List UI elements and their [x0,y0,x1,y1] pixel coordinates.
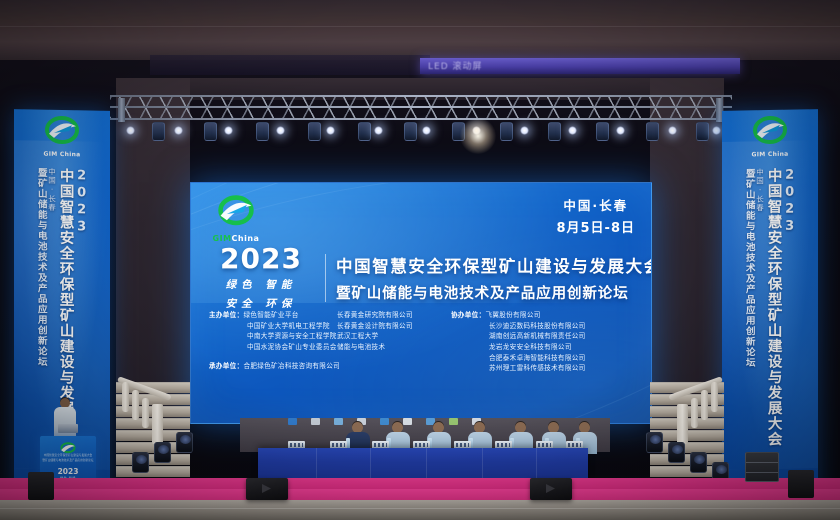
banner-logo-wordmark-left: GIM China [35,150,89,158]
conference-subtitle: 暨矿山储能与电池技术及产品应用创新论坛 [336,282,652,303]
banner-city-right: 中国·长春 [756,168,764,493]
screen-title-area: 2023 绿色 智能 安全 环保 中国智慧安全环保型矿山建设与发展大会 暨矿山储… [207,245,637,311]
title-divider [325,254,326,302]
organizers-column-2: 长春黄金研究院有限公司 长春黄金设计院有限公司 武汉工程大学 储能与电池技术 [337,310,433,374]
stair-newel-left [152,404,163,444]
banner-vertical-text-right: 2023 中国智慧安全环保型矿山建设与发展大会 中国·长春 暨矿山储能与电池技术… [722,167,818,494]
banner-logo-wordmark-right: GIM China [743,150,797,158]
sponsor-icon [311,418,320,425]
moving-head-light [176,432,193,453]
podium-line1: 中国智慧安全环保型矿山建设与发展大会 [40,454,96,458]
bright-spotlight-flare [460,118,496,154]
conference-title: 中国智慧安全环保型矿山建设与发展大会 [336,253,652,277]
organizer-row: 储能与电池技术 [337,342,433,353]
staircase-left [116,360,190,490]
gim-logo-icon [42,116,82,151]
host-label: 承办单位： [209,362,243,370]
cohost-item: 飞翼股份有限公司 [485,311,540,319]
podium-laptop [58,424,78,433]
moving-head-light [132,452,149,473]
cohost-label: 协办单位： [451,311,485,319]
sponsor-icon [288,418,297,425]
conference-stage-photo: LED 滚动屏 G [0,0,840,520]
ceiling-wall [0,0,840,60]
screen-gim-logo: GIMChina [205,193,267,243]
overhead-led-ticker: LED 滚动屏 [420,58,740,74]
led-ticker-text: LED 滚动屏 [428,59,483,72]
organizer-row: 主办单位：绿色智能矿业平台 [209,310,337,321]
organizer-row: 长春黄金研究院有限公司 [337,310,433,321]
cohost-row: 湖南创远高新机械有限责任公司 [451,331,637,342]
organizer-row: 中国水泥协会矿山专业委员会 [209,342,337,353]
truss-chord-mid [110,106,732,108]
event-dates: 8月5日-8日 [556,217,635,236]
organizer-label: 主办单位： [209,311,243,319]
truss-chord-top [110,95,732,97]
event-city: 中国·长春 [556,195,635,214]
host-item: 合肥绿色矿冶科技咨询有限公司 [243,362,340,370]
banner-logo-right: GIM China [743,115,797,158]
organizers-column-1: 主办单位：绿色智能矿业平台 中国矿业大学机电工程学院 中南大学资源与安全工程学院… [209,310,337,374]
host-row: 承办单位：合肥绿色矿冶科技咨询有限公司 [209,361,337,372]
stair-newel-right [677,404,688,444]
foreground-floor [0,500,840,520]
screen-title-text: 中国智慧安全环保型矿山建设与发展大会 暨矿山储能与电池技术及产品应用创新论坛 [336,253,652,303]
organizer-row: 武汉工程大学 [337,331,433,342]
truss-support-left [118,98,125,122]
cohosts-column: 协办单位：飞翼股份有限公司 长沙迪迈数码科技股份有限公司 湖南创远高新机械有限责… [433,310,637,374]
organizer-row: 中国矿业大学机电工程学院 [209,321,337,332]
floor-subwoofer [788,470,814,498]
organizer-item: 绿色智能矿业平台 [243,311,298,319]
event-slogan-line1: 绿色 智能 [207,277,315,292]
event-slogan-line2: 安全 环保 [207,296,315,311]
floor-subwoofer [28,472,54,500]
cohost-row: 长沙迪迈数码科技股份有限公司 [451,321,637,332]
screen-credits: 主办单位：绿色智能矿业平台 中国矿业大学机电工程学院 中南大学资源与安全工程学院… [209,310,637,374]
stage-monitor-speaker [246,478,288,500]
gim-logo-icon [750,116,790,151]
event-year: 2023 [207,245,315,273]
moving-head-light [668,442,685,463]
podium-logo-icon [59,440,77,453]
banner-title-right: 中国智慧安全环保型矿山建设与发展大会 [766,168,781,493]
screen-date-block: 中国·长春 8月5日-8日 [556,195,635,236]
banner-subtitle-right: 暨矿山储能与电池技术及产品应用创新论坛 [744,168,754,493]
podium-line2: 暨矿山储能与电池技术及产品应用创新论坛 [40,459,96,463]
main-led-screen: GIMChina 中国·长春 8月5日-8日 2023 绿色 智能 安全 环保 … [190,182,652,424]
screen-year-block: 2023 绿色 智能 安全 环保 [207,245,315,311]
vertical-banner-right: GIM China 2023 中国智慧安全环保型矿山建设与发展大会 中国·长春 … [722,109,818,501]
cohost-row: 合肥泰禾卓海智能科技有限公司 [451,353,637,364]
moving-head-light [690,452,707,473]
banner-year-right: 2023 [783,167,797,492]
moving-head-light [154,442,171,463]
credits-gap [209,353,337,361]
moving-head-light [646,432,663,453]
banner-logo-left: GIM China [35,115,89,158]
cohost-row: 龙岩龙安安全科技有限公司 [451,342,637,353]
ceiling-shadow-panel [150,55,430,75]
cohost-row: 协办单位：飞翼股份有限公司 [451,310,637,321]
cohost-row: 苏州理工雷科传感技术有限公司 [451,363,637,374]
gim-logo-icon [216,193,256,233]
organizer-row: 长春黄金设计院有限公司 [337,321,433,332]
sponsor-icon [334,418,343,425]
equipment-road-case [745,452,779,482]
lighting-truss [110,95,732,121]
stage-light-row [112,120,730,150]
organizer-row: 中南大学资源与安全工程学院 [209,331,337,342]
stage-monitor-speaker [530,478,572,500]
